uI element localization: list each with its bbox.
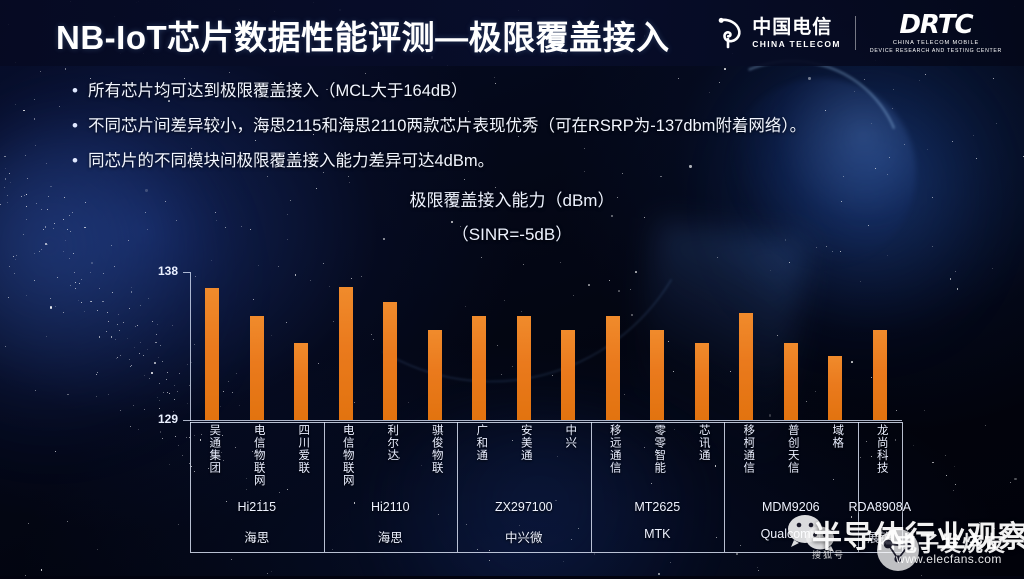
bar-9 [561,330,575,420]
category-label-2: 电信物联网 [249,424,265,496]
china-telecom-logo: 中国电信 CHINA TELECOM [715,17,841,49]
category-label-15: 域格 [827,424,843,496]
category-label-1: 吴通集团 [204,424,220,496]
x-axis-line [190,420,902,421]
y-axis-line [190,272,191,421]
vendor-name-1: 海思 [187,527,327,546]
category-label-8: 安美通 [516,424,532,496]
vendor-name-6: 展锐 [810,527,950,546]
bar-13 [739,313,753,420]
y-axis-tick-mark-min [183,420,190,421]
bar-6 [428,330,442,420]
vendor-name-4: MTK [587,527,727,541]
logo-divider [855,16,856,50]
label-table-top-border [190,422,902,423]
bar-10 [606,316,620,420]
page-title: NB-IoT芯片数据性能评测—极限覆盖接入 [56,11,670,59]
china-telecom-mark-icon [715,17,745,49]
bar-chart: 138129吴通集团电信物联网四川爱联电信物联网利尔达骐俊物联广和通安美通中兴移… [0,0,1024,576]
bar-15 [828,356,842,420]
chip-name-3: ZX297100 [454,500,594,514]
category-label-3: 四川爱联 [293,424,309,496]
category-label-9: 中兴 [560,424,576,496]
bar-16 [873,330,887,420]
china-telecom-text: 中国电信 CHINA TELECOM [752,18,841,49]
drtc-subtitle-1: CHINA TELECOM MOBILE [893,41,979,47]
bar-11 [650,330,664,420]
bar-14 [784,343,798,420]
bar-8 [517,316,531,420]
bar-2 [250,316,264,420]
category-label-5: 利尔达 [382,424,398,496]
chip-name-6: RDA8908A [810,500,950,514]
y-axis-tick-min: 129 [138,412,178,426]
bar-3 [294,343,308,420]
bar-5 [383,302,397,420]
category-label-4: 电信物联网 [338,424,354,496]
chip-name-4: MT2625 [587,500,727,514]
drtc-logo: DRTC CHINA TELECOM MOBILE DEVICE RESEARC… [870,12,1002,54]
category-label-10: 移远通信 [605,424,621,496]
category-label-13: 移柯通信 [738,424,754,496]
bar-1 [205,288,219,420]
drtc-subtitle-2: DEVICE RESEARCH AND TESTING CENTER [870,49,1002,54]
category-label-7: 广和通 [471,424,487,496]
china-telecom-en-label: CHINA TELECOM [752,40,841,49]
label-table-bottom-border [190,552,902,553]
china-telecom-cn-label: 中国电信 [752,18,841,37]
category-label-11: 零零智能 [649,424,665,496]
bar-4 [339,287,353,420]
vendor-name-3: 中兴微 [454,527,594,546]
logo-group: 中国电信 CHINA TELECOM DRTC CHINA TELECOM MO… [715,9,1002,57]
chip-name-2: Hi2110 [320,500,460,514]
chip-name-1: Hi2115 [187,500,327,514]
category-label-16: 龙尚科技 [872,424,888,496]
y-axis-tick-max: 138 [138,264,178,278]
bar-7 [472,316,486,420]
category-label-12: 芯讯通 [694,424,710,496]
category-label-6: 骐俊物联 [427,424,443,496]
y-axis-tick-mark-max [183,272,190,273]
vendor-name-2: 海思 [320,527,460,546]
title-bar: NB-IoT芯片数据性能评测—极限覆盖接入 中国电信 CHINA TELECOM… [0,0,1024,66]
drtc-wordmark: DRTC [899,12,972,38]
bar-12 [695,343,709,420]
category-label-14: 普创天信 [783,424,799,496]
